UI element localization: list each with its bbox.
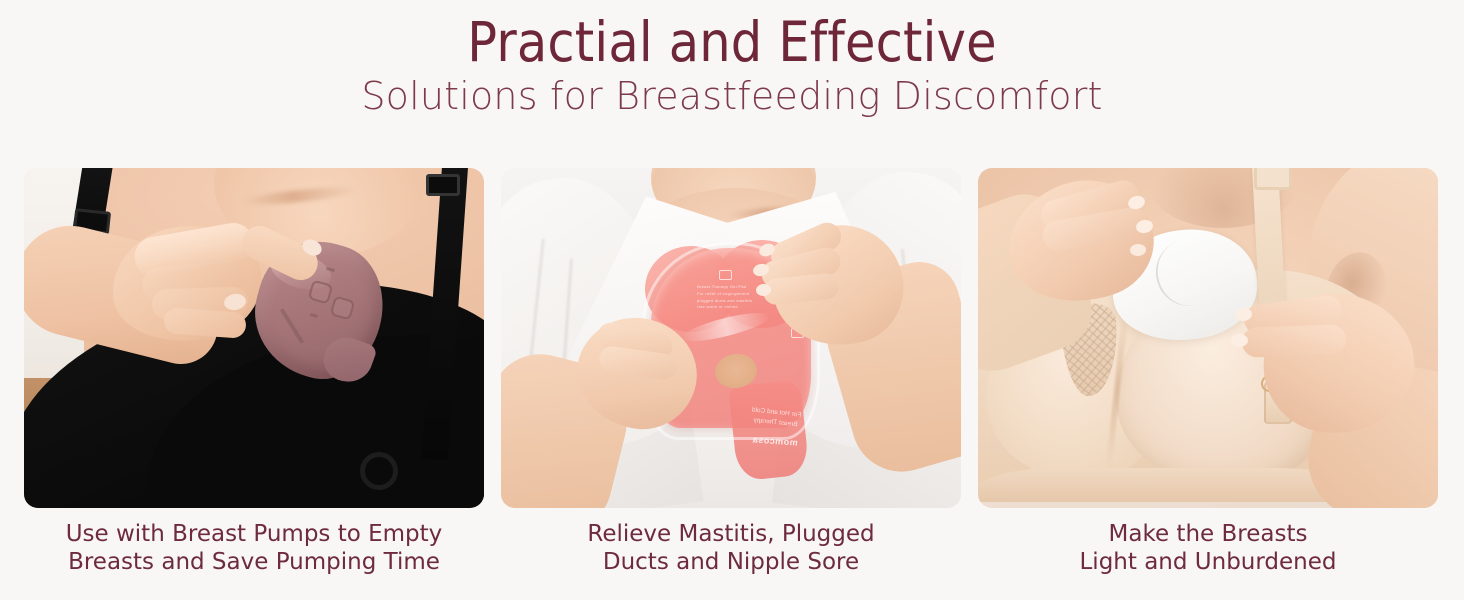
page-title: Practial and Effective [0, 14, 1464, 70]
finger-left-3 [600, 370, 673, 399]
feature-card-massager[interactable]: Use with Breast Pumps to Empty Breasts a… [24, 168, 484, 576]
product-photo-massager [24, 168, 484, 508]
feature-card-gel-pack[interactable]: Breast Therapy Gel Pad For relief of eng… [501, 168, 961, 576]
card-caption: Use with Breast Pumps to Empty Breasts a… [24, 520, 484, 576]
bra-clip-right [426, 174, 460, 196]
promo-banner: Practial and Effective Solutions for Bre… [0, 0, 1464, 600]
bra-ring [360, 452, 398, 490]
bra-strap-adjuster [1254, 168, 1292, 190]
feature-card-row: Use with Breast Pumps to Empty Breasts a… [24, 168, 1437, 576]
card-caption: Relieve Mastitis, Plugged Ducts and Nipp… [501, 520, 961, 576]
gel-pack-icon-microwave [719, 270, 732, 280]
feature-card-nursing-bra[interactable]: Make the Breasts Light and Unburdened [978, 168, 1438, 576]
product-photo-nursing-bra [978, 168, 1438, 508]
gel-pack-instructions: Breast Therapy Gel Pad For relief of eng… [697, 284, 753, 311]
page-subtitle: Solutions for Breastfeeding Discomfort [0, 76, 1464, 118]
product-photo-gel-pack: Breast Therapy Gel Pad For relief of eng… [501, 168, 961, 508]
heading-block: Practial and Effective Solutions for Bre… [0, 14, 1464, 118]
card-caption: Make the Breasts Light and Unburdened [978, 520, 1438, 576]
